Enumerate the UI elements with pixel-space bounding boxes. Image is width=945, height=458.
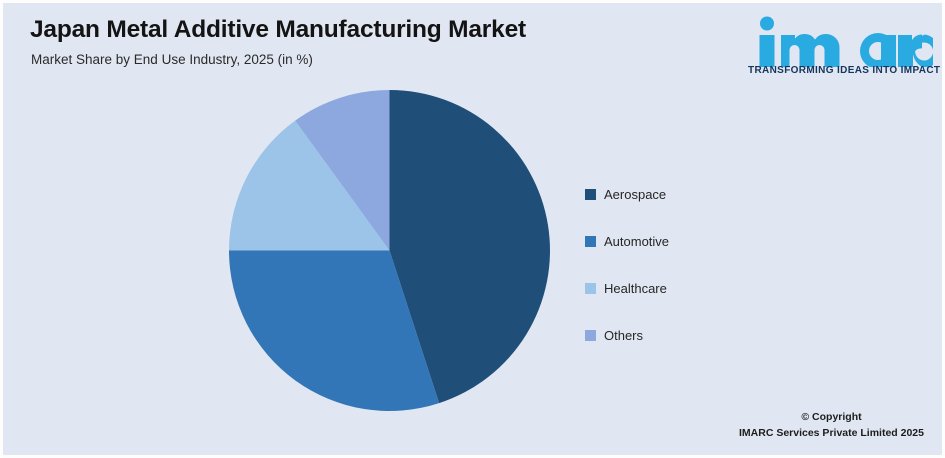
imarc-logo-tagline: TRANSFORMING IDEAS INTO IMPACT <box>748 65 933 76</box>
imarc-logo: TRANSFORMING IDEAS INTO IMPACT <box>748 15 933 83</box>
chart-title: Japan Metal Additive Manufacturing Marke… <box>30 16 526 44</box>
copyright-line-1: © Copyright <box>739 409 924 425</box>
legend-item-aerospace[interactable]: Aerospace <box>585 171 785 218</box>
imarc-wordmark-icon <box>748 15 933 67</box>
copyright-line-2: IMARC Services Private Limited 2025 <box>739 425 924 441</box>
legend-item-automotive[interactable]: Automotive <box>585 218 785 265</box>
chart-subtitle: Market Share by End Use Industry, 2025 (… <box>31 52 313 67</box>
legend-swatch-icon <box>585 330 596 341</box>
legend-item-label: Others <box>604 328 643 343</box>
legend-item-healthcare[interactable]: Healthcare <box>585 265 785 312</box>
pie-slice-group <box>229 90 550 411</box>
legend-item-others[interactable]: Others <box>585 312 785 359</box>
legend-item-label: Automotive <box>604 234 669 249</box>
pie-chart-svg <box>229 90 550 411</box>
pie-chart <box>229 90 550 411</box>
legend-item-label: Aerospace <box>604 187 666 202</box>
legend-swatch-icon <box>585 236 596 247</box>
chart-canvas: Japan Metal Additive Manufacturing Marke… <box>0 0 945 458</box>
legend-item-label: Healthcare <box>604 281 667 296</box>
legend-swatch-icon <box>585 189 596 200</box>
chart-legend: AerospaceAutomotiveHealthcareOthers <box>585 171 785 359</box>
copyright-notice: © Copyright IMARC Services Private Limit… <box>739 409 924 441</box>
legend-swatch-icon <box>585 283 596 294</box>
